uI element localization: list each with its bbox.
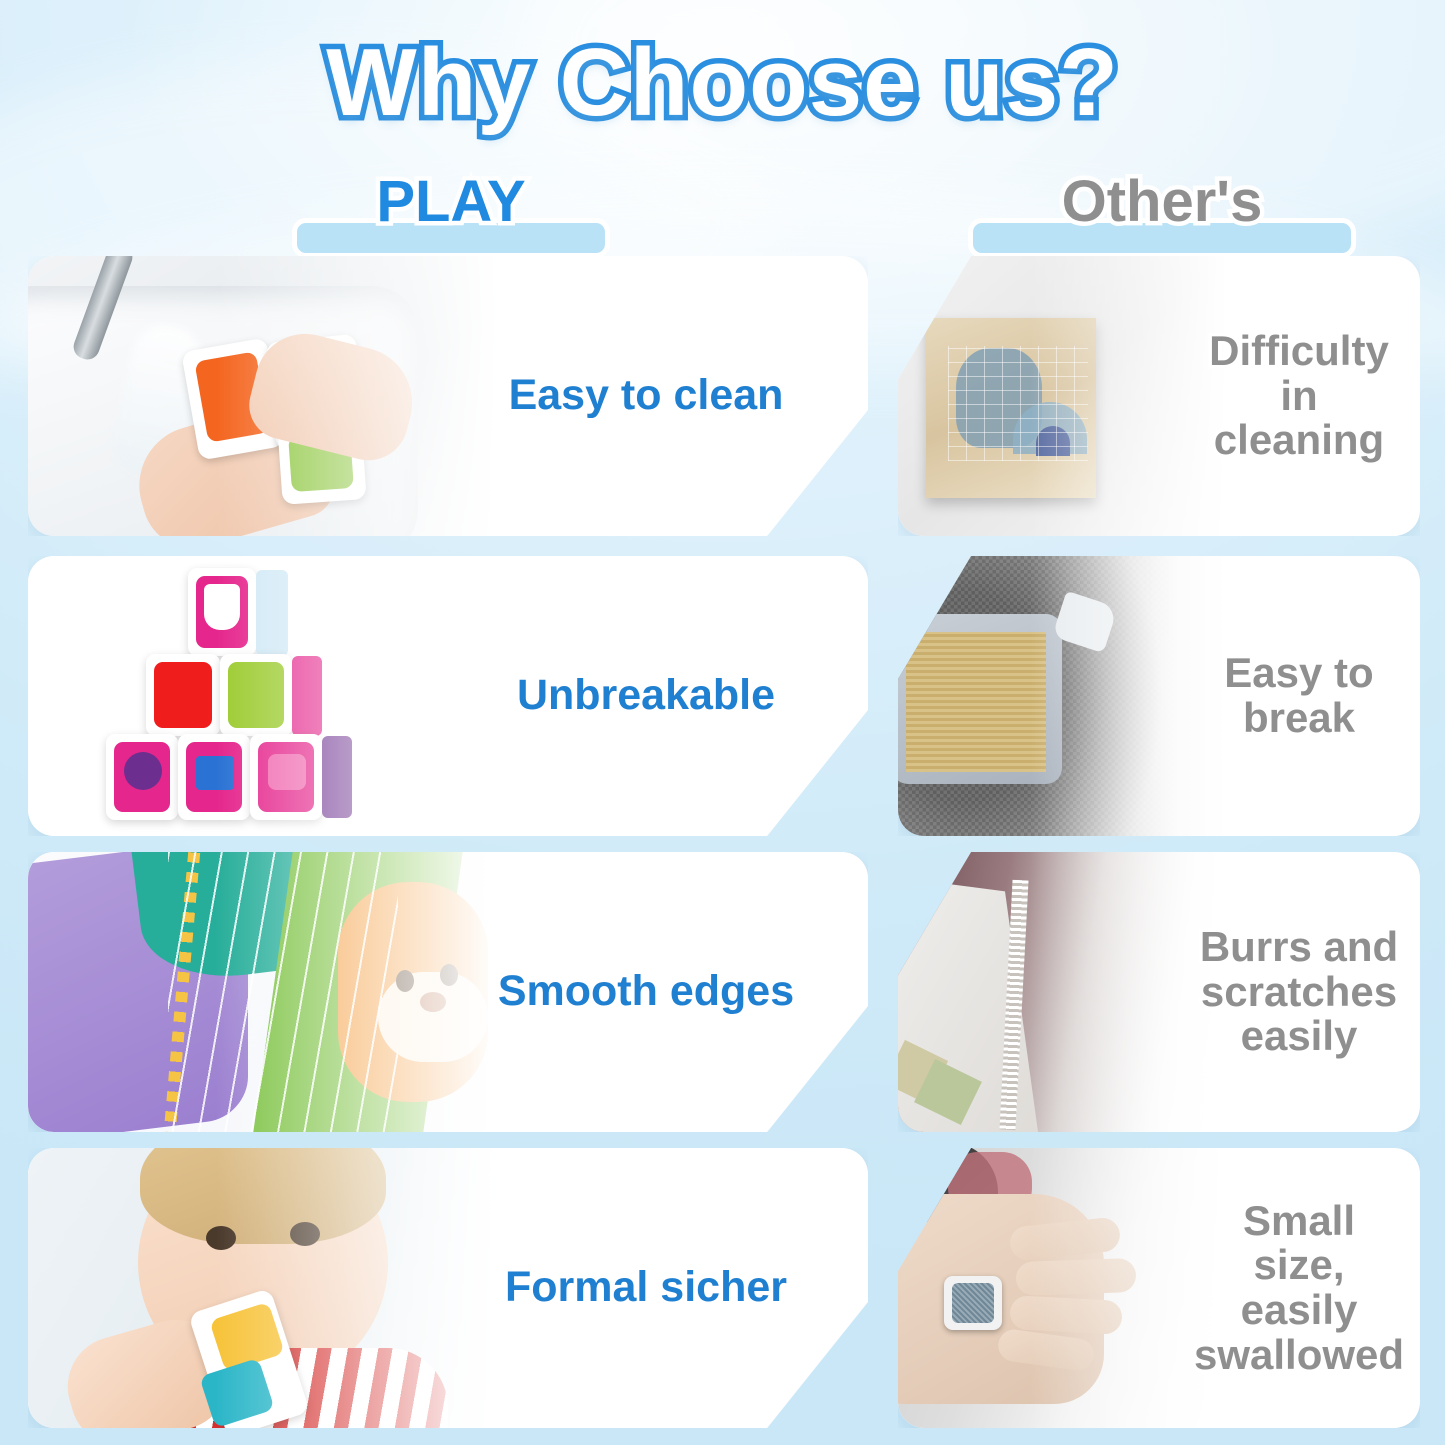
ours-caption: Smooth edges xyxy=(458,852,834,1132)
photo-soft-block-corner-with-lion-print xyxy=(28,852,498,1132)
ours-caption: Easy to clean xyxy=(458,256,834,536)
column-label-theirs: Other's xyxy=(968,173,1356,231)
ours-caption: Unbreakable xyxy=(458,556,834,836)
ours-card-smooth-edges: Smooth edges xyxy=(28,852,868,1132)
photo-pyramid-of-colorful-shape-blocks xyxy=(28,556,498,836)
ours-card-formal-sicher: Formal sicher xyxy=(28,1148,868,1428)
photo-baby-chewing-soft-block xyxy=(28,1148,498,1428)
photo-broken-block-on-dark-carpet xyxy=(898,556,1228,836)
ours-caption: Formal sicher xyxy=(458,1148,834,1428)
theirs-card-burrs-and-scratches: Burrs and scratches easily xyxy=(898,852,1420,1132)
theirs-card-easy-to-break: Easy to break xyxy=(898,556,1420,836)
photo-hands-washing-toy-block-in-sink xyxy=(28,256,498,536)
photo-worn-wooden-block-with-bear-print xyxy=(898,256,1228,536)
theirs-caption: Easy to break xyxy=(1198,556,1400,836)
theirs-caption: Difficulty in cleaning xyxy=(1198,256,1400,536)
column-label-ours: PLAY xyxy=(292,173,610,231)
theirs-caption: Burrs and scratches easily xyxy=(1198,852,1400,1132)
comparison-row: Formal sicher xyxy=(0,1148,1445,1428)
photo-hand-holding-tiny-block xyxy=(898,1148,1228,1428)
ours-card-unbreakable: Unbreakable xyxy=(28,556,868,836)
page-title: Why Choose us? xyxy=(0,34,1445,132)
ours-card-easy-to-clean: Easy to clean xyxy=(28,256,868,536)
comparison-row: Easy to clean Difficulty in xyxy=(0,256,1445,536)
theirs-card-small-size-easily-swallowed: Small size, easily swallowed xyxy=(898,1148,1420,1428)
theirs-caption: Small size, easily swallowed xyxy=(1198,1148,1400,1428)
column-header-theirs: Other's xyxy=(968,218,1356,258)
comparison-row: Smooth edges Burrs and scratch xyxy=(0,852,1445,1132)
column-header-ours: PLAY xyxy=(292,218,610,258)
photo-rough-splintered-wooden-edge xyxy=(898,852,1228,1132)
infographic-root: Why Choose us? PLAY Other's xyxy=(0,0,1445,1445)
theirs-card-difficulty-in-cleaning: Difficulty in cleaning xyxy=(898,256,1420,536)
comparison-row: Unbreakable Easy to break xyxy=(0,556,1445,836)
